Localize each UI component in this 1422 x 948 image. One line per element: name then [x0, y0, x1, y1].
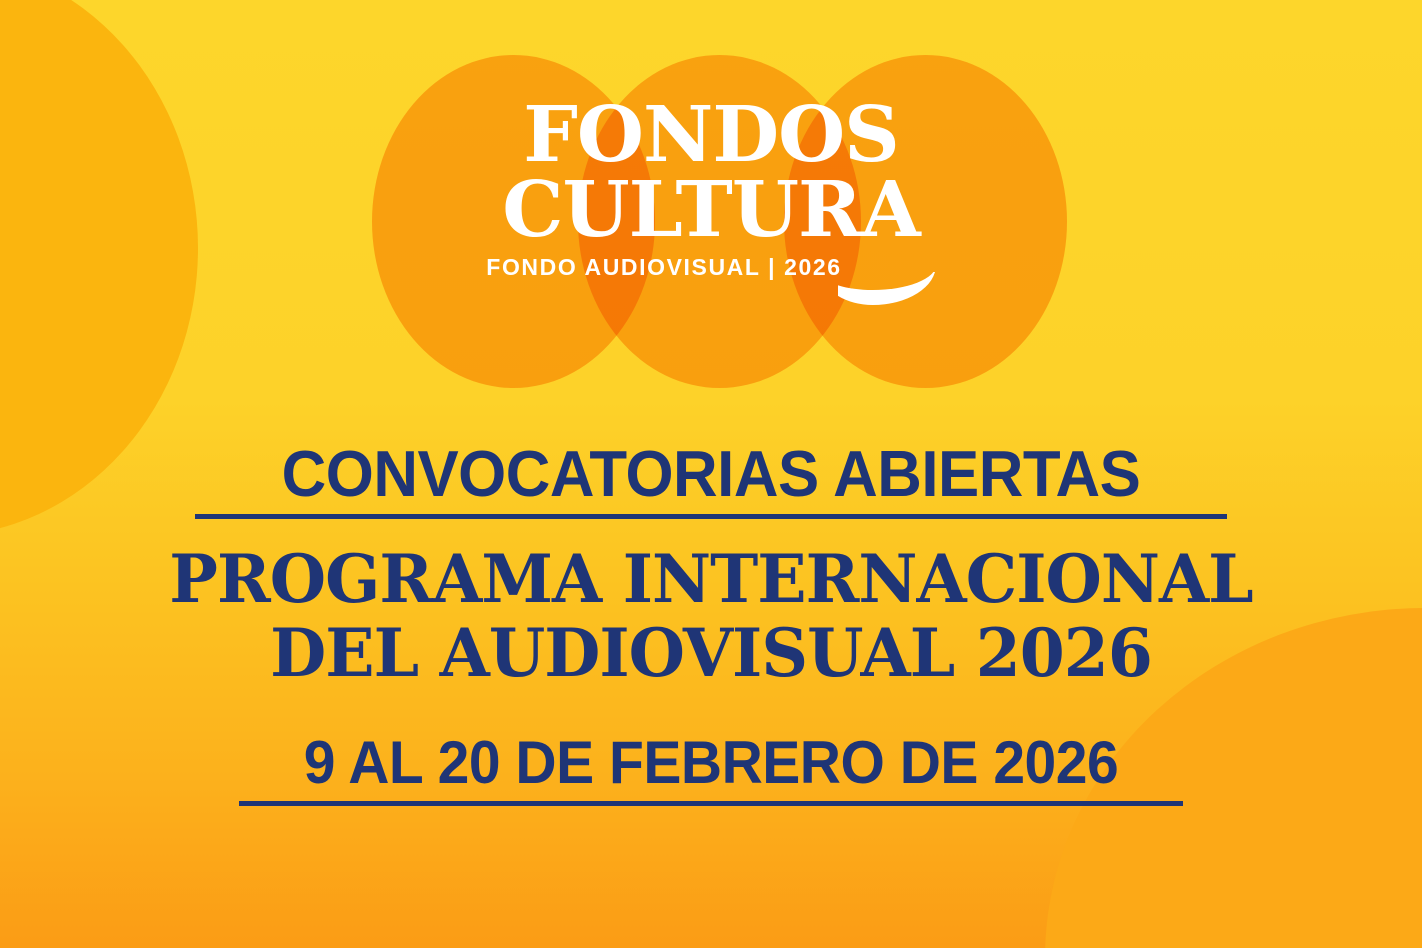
kicker-text: CONVOCATORIAS ABIERTAS: [36, 440, 1387, 508]
kicker-underline: [195, 514, 1227, 519]
dates-underline: [239, 801, 1183, 806]
headline-block: CONVOCATORIAS ABIERTAS PROGRAMA INTERNAC…: [0, 440, 1422, 806]
page-title-line-1: PROGRAMA INTERNACIONAL: [14, 543, 1408, 617]
page-title-line-2: DEL AUDIOVISUAL 2026: [14, 617, 1408, 691]
logo-subtitle: FONDO AUDIOVISUAL | 2026: [0, 256, 1422, 279]
logo-word-cultura: CULTURA: [0, 171, 1422, 250]
dates-text: 9 AL 20 DE FEBRERO DE 2026: [36, 732, 1387, 794]
fondos-cultura-logo: FONDOS CULTURA FONDO AUDIOVISUAL | 2026: [0, 100, 1422, 279]
logo-word-fondos: FONDOS: [0, 100, 1422, 171]
page-title: PROGRAMA INTERNACIONAL DEL AUDIOVISUAL 2…: [14, 543, 1408, 691]
poster-canvas: FONDOS CULTURA FONDO AUDIOVISUAL | 2026 …: [0, 0, 1422, 948]
